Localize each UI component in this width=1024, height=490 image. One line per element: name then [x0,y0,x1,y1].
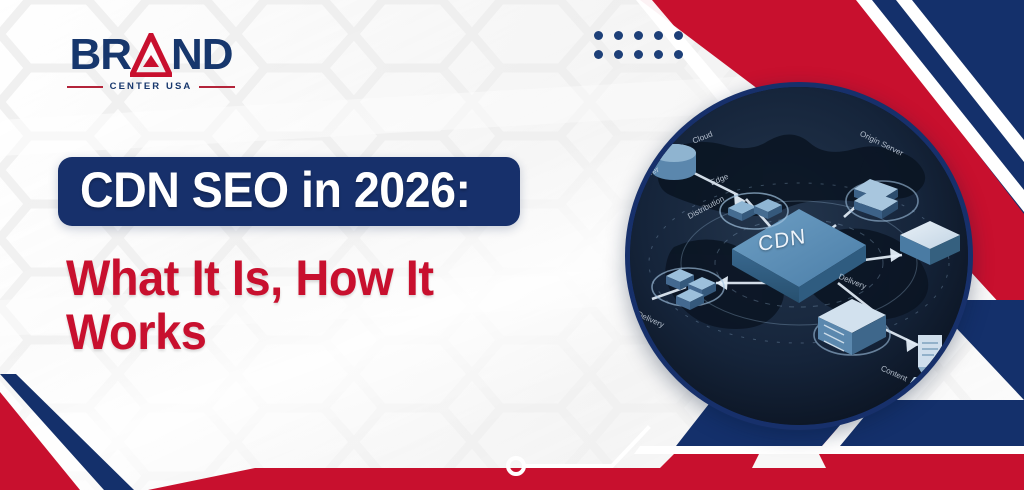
dot [674,31,683,40]
dot [614,31,623,40]
deco-white-line-bottom [634,446,1024,454]
dot [674,50,683,59]
logo-wordmark: BR ND [56,33,246,77]
dot [634,50,643,59]
logo-rule-right [199,86,235,88]
banner-root: BR ND CENTER USA CDN SEO in 2026: What I… [0,0,1024,490]
dot [634,31,643,40]
dot [594,50,603,59]
dot [594,31,603,40]
logo-word-before: BR [69,33,131,77]
brand-logo[interactable]: BR ND CENTER USA [56,33,246,92]
logo-tagline: CENTER USA [110,81,193,92]
cdn-network-graphic [630,87,968,425]
page-subtitle: What It Is, How It Works [66,252,574,359]
dot [654,50,663,59]
dot [654,31,663,40]
headline-title-box: CDN SEO in 2026: [58,157,520,226]
page-subtitle-line-1: What It Is, How It [66,252,574,306]
dot [614,50,623,59]
page-subtitle-line-2: Works [66,306,574,360]
cdn-network-illustration: CDN Cloud Edge Server Distribution Origi… [625,82,973,430]
logo-word-after: ND [171,33,233,77]
page-title: CDN SEO in 2026: [80,165,471,215]
database-node-icon [652,144,696,180]
dot-grid-decoration [594,31,694,69]
logo-tagline-row: CENTER USA [56,81,246,92]
logo-triangle-a-icon [130,33,172,77]
cdn-illustration-inner: CDN Cloud Edge Server Distribution Origi… [630,87,968,425]
logo-rule-left [67,86,103,88]
circuit-trace [524,428,648,466]
